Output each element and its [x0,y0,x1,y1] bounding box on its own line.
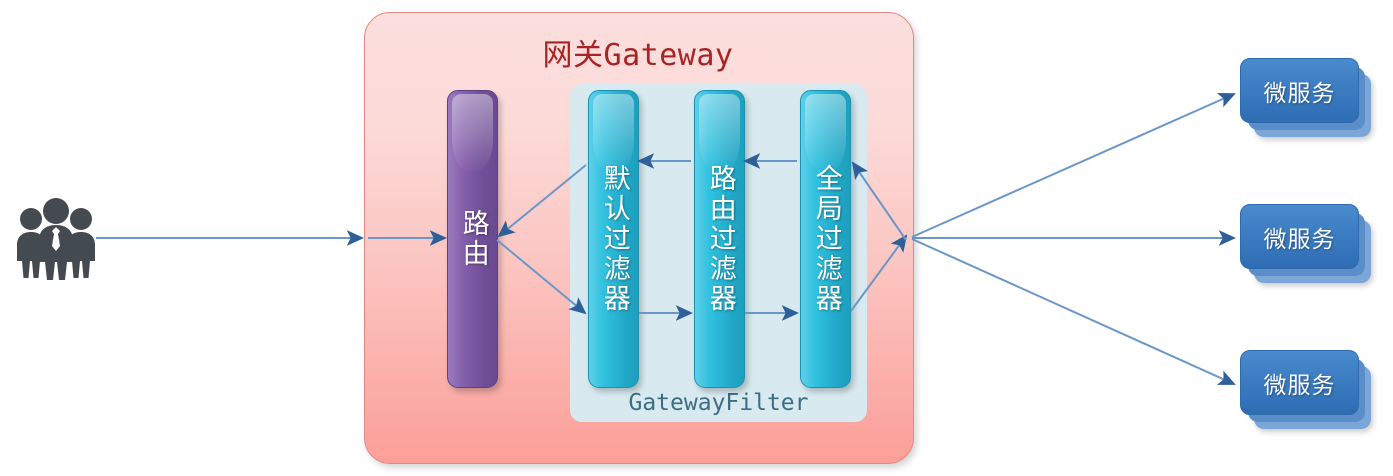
microservice-label: 微服务 [1264,220,1336,254]
route-box-label: 路由 [458,209,487,269]
microservice-card-1[interactable]: 微服务 [1234,52,1374,142]
route-filter-label: 路由过滤器 [705,164,734,314]
global-filter-label: 全局过滤器 [811,164,840,314]
card-stack-front: 微服务 [1240,58,1359,123]
default-filter-box[interactable]: 默认过滤器 [588,90,639,388]
gateway-title: 网关Gateway [364,30,912,74]
global-filter-box[interactable]: 全局过滤器 [800,90,851,388]
gateway-filter-label: GatewayFilter [570,390,867,416]
route-box[interactable]: 路由 [447,90,498,388]
diagram-canvas: 网关Gateway GatewayFilter 路由 默认过滤器 路由过滤器 全… [0,0,1393,476]
microservice-label: 微服务 [1264,74,1336,108]
default-filter-label: 默认过滤器 [599,164,628,314]
arrow-junction-to-microservice-3 [912,239,1234,384]
microservice-card-3[interactable]: 微服务 [1234,344,1374,434]
card-stack-front: 微服务 [1240,204,1359,269]
users-group-icon [10,196,102,280]
microservice-label: 微服务 [1264,366,1336,400]
arrow-junction-to-microservice-1 [912,94,1234,237]
card-stack-front: 微服务 [1240,350,1359,415]
route-filter-box[interactable]: 路由过滤器 [694,90,745,388]
microservice-card-2[interactable]: 微服务 [1234,198,1374,288]
